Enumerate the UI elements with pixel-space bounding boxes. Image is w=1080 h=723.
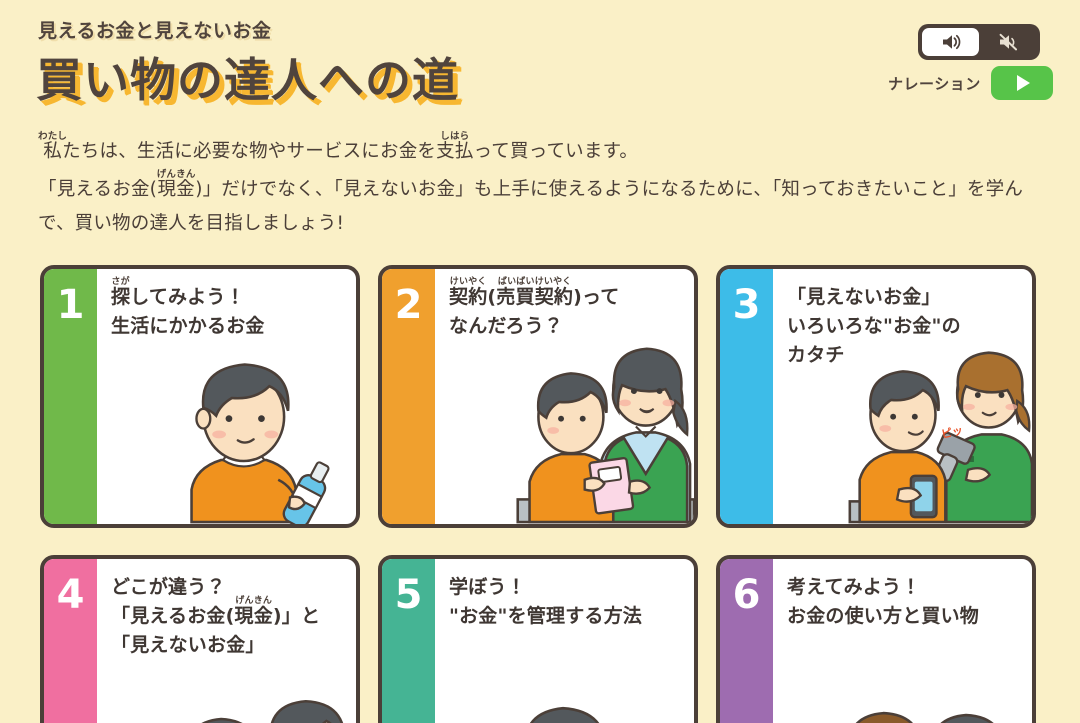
intro-paragraph: 私わたしたちは、生活に必要な物やサービスにお金を支払しはらって買っています。 「…: [38, 131, 1050, 241]
sound-off-button[interactable]: [979, 28, 1036, 56]
card-6-body: 考えてみよう！ お金の使い方と買い物: [773, 559, 1032, 723]
card-2-title: 契約けいやく(売買契約ばいばいけいやく)って なんだろう？: [435, 269, 694, 341]
card-6-number: 6: [720, 559, 773, 723]
narration-play-button[interactable]: [991, 66, 1053, 100]
card-4-ruby-genkin: 現金げんきん: [235, 605, 273, 627]
card-5-title-line2: "お金"を管理する方法: [449, 605, 642, 627]
lesson-card-5[interactable]: 5 学ぼう！ "お金"を管理する方法: [378, 555, 698, 723]
intro-text-b: たちは、生活に必要な物やサービスにお金を: [62, 141, 436, 162]
card-4-body: どこが違う？ 「見えるお金(現金げんきん)」と 「見えないお金」: [97, 559, 356, 723]
page-title: 買い物の達人への道: [36, 44, 459, 110]
lesson-card-6[interactable]: 6 考えてみよう！ お金の使い方と買い物: [716, 555, 1036, 723]
lesson-card-4[interactable]: 4 どこが違う？ 「見えるお金(現金げんきん)」と 「見えないお金」: [40, 555, 360, 723]
card-3-title: 「見えないお金」 いろいろな"お金"の カタチ: [773, 269, 1032, 370]
intro-text-2b: 金: [131, 179, 150, 200]
card-2-ruby-keiyaku: 契約けいやく: [449, 286, 487, 308]
card-3-title-line2: いろいろな"お金"の: [787, 315, 961, 337]
sound-toggle[interactable]: [918, 24, 1040, 60]
speaker-on-icon: [940, 33, 962, 51]
card-1-ruby: 探さが: [111, 286, 130, 308]
intro-line-2: 「見えるお金(現金げんきん)」だけでなく、「見えないお金」も上手に使えるようにな…: [38, 169, 1050, 241]
card-1-number: 1: [44, 269, 97, 524]
intro-ruby-shiharau: 支払しはら: [436, 141, 473, 162]
card-2-number: 2: [382, 269, 435, 524]
lesson-card-2[interactable]: 2 契約けいやく(売買契約ばいばいけいやく)って なんだろう？: [378, 265, 698, 528]
card-2-title-line2: なんだろう？: [449, 315, 563, 337]
card-3-body: 「見えないお金」 いろいろな"お金"の カタチ ピッ: [773, 269, 1032, 524]
card-3-number: 3: [720, 269, 773, 524]
card-6-title-line2: お金の使い方と買い物: [787, 605, 979, 627]
card-4-number: 4: [44, 559, 97, 723]
card-1-title: 探さがしてみよう！ 生活にかかるお金: [97, 269, 356, 341]
card-1-title-line2: 生活にかかるお金: [111, 315, 265, 337]
card-3-title-line3: カタチ: [787, 344, 845, 366]
lesson-card-grid: 1 探さがしてみよう！ 生活にかかるお金: [40, 265, 1040, 723]
card-6-title: 考えてみよう！ お金の使い方と買い物: [773, 559, 1032, 631]
card-1-body: 探さがしてみよう！ 生活にかかるお金: [97, 269, 356, 524]
card-4-title-line1: どこが違う？: [111, 576, 226, 598]
card-5-title-line1: 学ぼう！: [449, 576, 526, 598]
lesson-card-3[interactable]: 3 「見えないお金」 いろいろな"お金"の カタチ ピッ: [716, 265, 1036, 528]
narration-control: ナレーション: [888, 66, 1053, 100]
intro-text-d: って買っています。: [474, 141, 639, 162]
intro-ruby-watashi: 私わたし: [38, 141, 62, 162]
intro-line-1: 私わたしたちは、生活に必要な物やサービスにお金を支払しはらって買っています。: [38, 131, 1050, 169]
card-1-title-rest: してみよう！: [130, 286, 245, 308]
card-5-title: 学ぼう！ "お金"を管理する方法: [435, 559, 694, 631]
page-header: 見えるお金と見えないお金 買い物の達人への道: [0, 0, 1080, 118]
lesson-index-page: 見えるお金と見えないお金 買い物の達人への道: [0, 0, 1080, 723]
play-icon: [1017, 75, 1030, 91]
card-2-ruby-baibai: 売買契約ばいばいけいやく: [496, 286, 573, 308]
speaker-muted-icon: [997, 33, 1019, 51]
card-4-title: どこが違う？ 「見えるお金(現金げんきん)」と 「見えないお金」: [97, 559, 356, 660]
card-4-title-line3: 「見えないお金」: [111, 634, 265, 656]
narration-label: ナレーション: [888, 73, 981, 94]
card-5-number: 5: [382, 559, 435, 723]
sound-on-button[interactable]: [922, 28, 979, 56]
intro-ruby-genkin: 現金げんきん: [157, 179, 195, 200]
lesson-card-1[interactable]: 1 探さがしてみよう！ 生活にかかるお金: [40, 265, 360, 528]
page-kicker: 見えるお金と見えないお金: [38, 16, 271, 43]
card-5-body: 学ぼう！ "お金"を管理する方法: [435, 559, 694, 723]
card-6-title-line1: 考えてみよう！: [787, 576, 920, 598]
intro-text-2a: 「見えるお: [38, 179, 131, 200]
card-2-body: 契約けいやく(売買契約ばいばいけいやく)って なんだろう？: [435, 269, 694, 524]
card-3-title-line1: 「見えないお金」: [787, 286, 941, 308]
